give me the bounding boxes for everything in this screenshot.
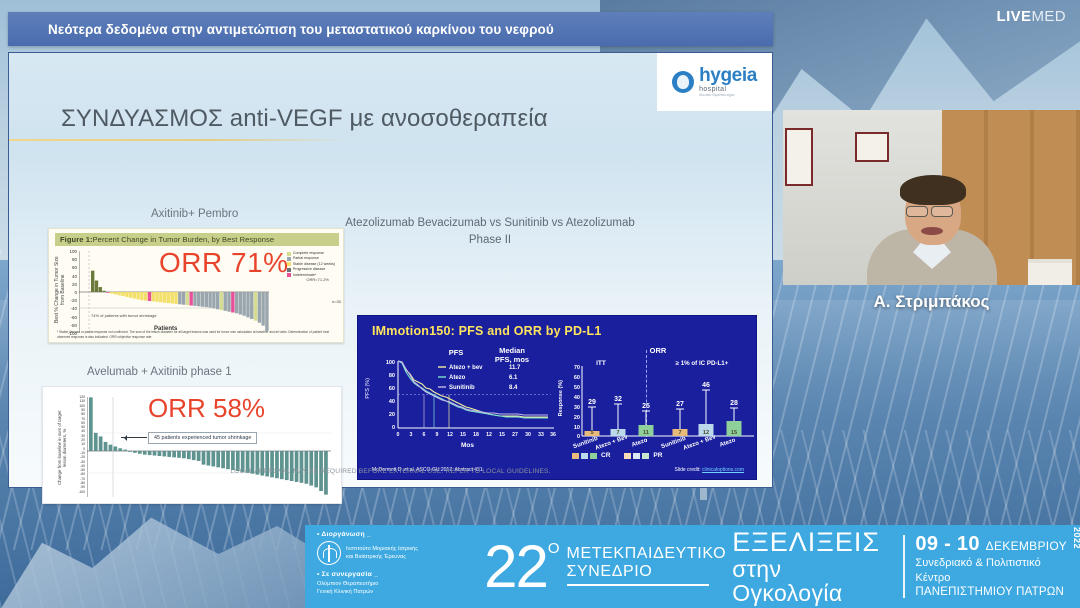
video-person-glasses-left: [906, 206, 928, 217]
svg-text:40: 40: [574, 395, 580, 401]
figure2-bar: [290, 451, 294, 481]
immotion150-orr-legend: CR PR: [572, 452, 662, 459]
figure1-bar: [106, 292, 109, 293]
figure1-bar: [261, 292, 264, 326]
svg-text:6: 6: [423, 432, 426, 438]
immotion-orr-category-label: Atezo: [719, 437, 737, 448]
immotion150-title: IMmotion150: PFS and ORR by PD-L1: [372, 324, 602, 338]
figure2-bar: [143, 451, 147, 455]
figure1-legend-swatch: [287, 262, 291, 266]
speaker-video-feed[interactable]: [783, 110, 1080, 285]
figure1-bar: [133, 292, 136, 299]
legend-swatch-pr-1: [624, 453, 631, 459]
hygeia-name: hygeia: [699, 66, 757, 85]
figure1-y-tick: 100: [63, 249, 77, 254]
immotion150-legend-cr: CR: [601, 452, 610, 459]
figure1-y-tick: -80: [63, 323, 77, 328]
figure2-bar: [148, 451, 152, 455]
congress-dates: 09 - 10 ΔΕΚΕΜΒΡΙΟΥ: [915, 533, 1074, 556]
congress-dates-month: ΔΕΚΕΜΒΡΙΟΥ: [986, 539, 1067, 553]
figure1-bar: [186, 292, 189, 305]
congress-rule: [567, 584, 709, 586]
figure1-bar: [102, 291, 105, 292]
congress-name-line-1: ΕΞΕΛΙΞΕΙΣ: [732, 528, 893, 556]
figure1-bar: [136, 292, 139, 299]
immotion150-orr-heading: ORR: [638, 346, 678, 355]
venue-line-1: Συνεδριακό & Πολιτιστικό Κέντρο: [915, 556, 1074, 586]
presentation-slide[interactable]: hygeia hospital Ιδιωτικό Θεραπευτήριο ΣΥ…: [8, 52, 773, 488]
figure1-bar: [159, 292, 162, 302]
figure2-bar: [177, 451, 181, 458]
figure1-bar: [246, 292, 249, 317]
figure2-bar: [153, 451, 157, 456]
figure2-waterfall-chart: ORR 58% Change from baseline in sum of t…: [42, 386, 342, 504]
hygeia-sub: hospital: [699, 86, 757, 93]
hygeia-mark-icon: [672, 71, 694, 93]
svg-text:3: 3: [410, 432, 413, 438]
figure2-bar: [167, 451, 171, 457]
video-framed-certificate-1: [785, 128, 813, 186]
figure2-bar: [123, 450, 127, 451]
figure1-bar: [163, 292, 166, 303]
figure1-caption: Axitinib+ Pembro: [151, 208, 238, 220]
svg-text:20: 20: [389, 412, 395, 418]
svg-text:36: 36: [550, 432, 556, 438]
figure2-bar: [99, 436, 103, 451]
session-title: Νεότερα δεδομένα στην αντιμετώπιση του μ…: [48, 22, 554, 37]
svg-text:6.1: 6.1: [509, 375, 518, 381]
livemed-live: LIVE: [997, 8, 1032, 25]
figure1-y-tick: -60: [63, 315, 77, 320]
svg-text:18: 18: [473, 432, 479, 438]
figure1-y-tick: 40: [63, 274, 77, 279]
figure1-legend-swatch: [287, 257, 291, 261]
figure1-bar: [239, 292, 242, 315]
immotion-orr-value-label: 28: [730, 400, 738, 407]
livemed-med: MED: [1031, 8, 1066, 25]
figure1-bar: [212, 292, 215, 308]
center-caption-line2: Phase II: [345, 232, 635, 249]
congress-banner: • Διοργάνωση _ Ινστιτούτο Μοριακής Ιατρι…: [305, 525, 1080, 608]
figure2-bar: [221, 451, 225, 468]
figure1-legend-label: Indeterminate*: [293, 273, 316, 278]
figure1-bar: [193, 292, 196, 306]
immotion-orr-value-label: 27: [676, 401, 684, 408]
figure2-bar: [211, 451, 215, 466]
figure1-bar: [250, 292, 253, 319]
figure1-y-tick: 80: [63, 257, 77, 262]
figure1-legend-swatch: [287, 268, 291, 272]
svg-text:30: 30: [574, 405, 580, 411]
cooperation-label: • Σε συνεργασία _: [317, 571, 472, 578]
video-person-hair: [900, 175, 966, 205]
figure1-header: Figure 1: Percent Change in Tumor Burden…: [55, 233, 339, 246]
legend-swatch-cr-2: [581, 453, 588, 459]
immotion-orr-value-label: 46: [702, 382, 710, 389]
figure1-bar: [152, 292, 155, 301]
svg-text:0: 0: [577, 434, 580, 440]
svg-text:10: 10: [574, 425, 580, 431]
figure1-bar: [114, 292, 117, 294]
figure2-bar: [216, 451, 220, 467]
banner-congress-type: ΜΕΤΕΚΠΑΙΔΕΥΤΙΚΟ ΣΥΝΕΔΡΙΟ: [559, 525, 727, 608]
figure1-waterfall-chart: Figure 1: Percent Change in Tumor Burden…: [48, 228, 344, 343]
figure2-bar: [162, 451, 166, 456]
banner-organizers: • Διοργάνωση _ Ινστιτούτο Μοριακής Ιατρι…: [305, 525, 480, 608]
figure2-bar: [187, 451, 191, 459]
figure1-bar: [91, 271, 94, 292]
immotion150-panel: IMmotion150: PFS and ORR by PD-L1 PFS Me…: [357, 315, 757, 480]
hygeia-fineprint: Ιδιωτικό Θεραπευτήριο: [699, 94, 757, 98]
figure2-bar: [226, 451, 230, 469]
immotion150-median-heading-l1: Median: [499, 346, 525, 355]
figure1-bar: [178, 292, 181, 304]
figure2-bar: [202, 451, 206, 465]
figure2-callout: 45 patients experienced tumor shrinkage: [148, 432, 257, 444]
figure1-footnote: * Stable disease or partial response not…: [57, 330, 337, 339]
figure2-bar: [104, 442, 108, 451]
figure1-bar: [110, 292, 113, 294]
immotion150-pfs-xlabel: Mos: [461, 442, 474, 449]
session-title-bar: Νεότερα δεδομένα στην αντιμετώπιση του μ…: [8, 12, 773, 46]
svg-text:80: 80: [389, 373, 395, 379]
figure1-y-tick: -20: [63, 298, 77, 303]
svg-text:Atezo: Atezo: [449, 375, 466, 381]
figure1-bar: [205, 292, 208, 307]
figure1-bar: [125, 292, 128, 297]
svg-text:40: 40: [389, 399, 395, 405]
figure1-y-tick: 20: [63, 282, 77, 287]
figure2-bar: [285, 451, 289, 480]
figure2-bar: [172, 451, 176, 457]
banner-congress-name: ΕΞΕΛΙΞΕΙΣ στην Ογκολογία: [726, 525, 893, 608]
screen-root: Νεότερα δεδομένα στην αντιμετώπιση του μ…: [0, 0, 1080, 608]
figure2-bar: [182, 451, 186, 458]
figure1-header-bold: Figure 1:: [60, 235, 93, 244]
legend-swatch-pr-2: [633, 453, 640, 459]
svg-text:0: 0: [392, 425, 395, 431]
edition-ordinal: Ο: [548, 540, 560, 557]
figure1-bar: [174, 292, 177, 304]
video-person-mouth: [921, 227, 943, 235]
congress-year: 2022: [1072, 527, 1080, 549]
speaker-name: Α. Στριμπάκος: [783, 292, 1080, 312]
immotion-orr-cr-label: 7: [678, 430, 681, 436]
svg-text:30: 30: [525, 432, 531, 438]
figure1-bar: [167, 292, 170, 303]
figure1-bar: [235, 292, 238, 313]
figure1-bar: [140, 292, 143, 300]
figure2-bar: [133, 451, 137, 453]
svg-text:9: 9: [436, 432, 439, 438]
cooperation-line-1: Ολύμπιον Θεραπευτήριο: [317, 580, 472, 588]
figure1-bar: [189, 292, 192, 306]
svg-text:12: 12: [447, 432, 453, 438]
figure1-bar: [121, 292, 124, 296]
figure2-bar: [128, 451, 132, 452]
edition-number: 22: [484, 537, 547, 597]
svg-text:15: 15: [499, 432, 505, 438]
banner-divider: [903, 535, 905, 598]
center-study-caption: Atezolizumab Bevacizumab vs Sunitinib vs…: [345, 215, 635, 248]
figure1-bar: [148, 292, 151, 301]
figure2-bar: [118, 448, 122, 451]
organizer-line-1: Ινστιτούτο Μοριακής Ιατρικής: [346, 545, 418, 553]
figure2-bar: [197, 451, 201, 461]
immotion150-orr-chart: 706050 403020 100 295Sunitinib327Atezo +…: [564, 364, 756, 462]
immotion-orr-value-label: 29: [588, 399, 596, 406]
svg-text:70: 70: [574, 365, 580, 371]
figure1-bar: [208, 292, 211, 308]
figure2-caption: Avelumab + Axitinib phase 1: [87, 366, 232, 378]
organizer-label: • Διοργάνωση _: [317, 531, 472, 538]
svg-text:50: 50: [574, 385, 580, 391]
legend-swatch-cr-1: [572, 453, 579, 459]
figure2-bar: [300, 451, 304, 483]
figure1-bar: [265, 292, 268, 331]
immotion-orr-category-label: Atezo: [631, 437, 649, 448]
figure2-bar: [89, 397, 93, 451]
svg-text:20: 20: [574, 415, 580, 421]
slide-disclaimer: LOCAL APPROVAL MAY BE REQUIRED BEFORE EX…: [9, 468, 772, 475]
legend-swatch-pr-3: [642, 453, 649, 459]
figure1-bar: [258, 292, 261, 323]
immotion-orr-value-label: 32: [614, 396, 622, 403]
figure1-legend-swatch: [287, 273, 291, 277]
figure2-bar: [207, 451, 211, 466]
congress-name-line-2: στην Ογκολογία: [732, 557, 893, 605]
figure2-bar: [158, 451, 162, 456]
figure1-bar: [95, 281, 98, 292]
figure1-legend-item: Indeterminate*: [287, 273, 335, 278]
svg-text:100: 100: [386, 360, 395, 366]
svg-text:11.7: 11.7: [509, 365, 521, 371]
svg-text:0: 0: [397, 432, 400, 438]
video-person: [867, 181, 997, 285]
figure1-bar: [227, 292, 230, 312]
immotion150-pfs-chart: 1008060 40200 036 91215 181215 273033 36: [376, 356, 556, 451]
svg-text:Atezo + bev: Atezo + bev: [449, 365, 483, 371]
institute-logo-icon: [317, 541, 341, 565]
svg-text:Sunitinib: Sunitinib: [449, 385, 475, 391]
immotion-orr-cr-label: 12: [703, 430, 709, 436]
figure1-n-note: n=30: [332, 299, 341, 304]
svg-text:60: 60: [389, 386, 395, 392]
svg-text:60: 60: [574, 375, 580, 381]
figure2-bar: [138, 451, 142, 454]
immotion-orr-cr-label: 5: [590, 430, 593, 436]
slide-title: ΣΥΝΔΥΑΣΜΟΣ anti-VEGF με ανοσοθεραπεία: [61, 105, 548, 133]
figure1-bar: [171, 292, 174, 303]
figure1-bar: [242, 292, 245, 316]
immotion-orr-value-label: 25: [642, 403, 650, 410]
figure2-bar: [295, 451, 299, 482]
immotion-orr-cr-label: 7: [616, 430, 619, 436]
congress-type-line-1: ΜΕΤΕΚΠΑΙΔΕΥΤΙΚΟ: [567, 545, 727, 563]
figure2-bar: [109, 445, 113, 451]
figure1-bar: [129, 292, 132, 298]
svg-text:27: 27: [512, 432, 518, 438]
figure2-plot-svg: [87, 397, 331, 497]
figure1-bar: [99, 287, 102, 292]
figure1-legend: Complete responsePartial responseStable …: [287, 251, 335, 278]
svg-text:8.4: 8.4: [509, 385, 518, 391]
hygeia-logo: hygeia hospital Ιδιωτικό Θεραπευτήριο: [657, 53, 772, 111]
figure1-bar: [182, 292, 185, 305]
immotion-orr-cr-label: 11: [643, 430, 649, 436]
title-underline-rule: [9, 139, 349, 141]
figure1-header-rest: Percent Change in Tumor Burden, by Best …: [93, 235, 275, 244]
figure1-bar: [201, 292, 204, 307]
figure1-bar: [144, 292, 147, 301]
figure1-y-tick: 0: [63, 290, 77, 295]
figure1-bar: [224, 292, 227, 311]
figure1-shrinkage-note: 74% of patients with tumor shrinkage: [91, 313, 157, 318]
figure1-bar: [197, 292, 200, 306]
svg-text:12: 12: [486, 432, 492, 438]
figure1-bar: [254, 292, 257, 321]
figure1-y-tick: -40: [63, 306, 77, 311]
figure1-y-tick: 60: [63, 265, 77, 270]
figure1-bar: [118, 292, 121, 295]
cooperation-line-2: Γενική Κλινική Πατρών: [317, 588, 472, 596]
figure1-bar: [216, 292, 219, 309]
figure1-plot-svg: [79, 251, 269, 333]
figure2-callout-arrow-icon: [121, 437, 147, 438]
organizer-line-2: και Βιοϊατρικής Έρευνας: [346, 553, 418, 561]
livemed-logo: LIVEMED: [997, 8, 1067, 25]
immotion-orr-cr-label: 15: [731, 430, 737, 436]
immotion-orr-category-label: Atezo + Bev: [595, 434, 630, 452]
banner-dates-venue: 09 - 10 ΔΕΚΕΜΒΡΙΟΥ Συνεδριακό & Πολιτιστ…: [915, 525, 1080, 608]
figure2-y-tick: -100: [69, 490, 85, 494]
figure1-bar: [220, 292, 223, 310]
video-papers: [1028, 263, 1072, 285]
center-caption-line1: Atezolizumab Bevacizumab vs Sunitinib vs…: [345, 215, 635, 232]
congress-dates-num: 09 - 10: [915, 533, 979, 555]
banner-edition-number: 22 Ο: [480, 525, 558, 608]
figure1-legend-swatch: [287, 252, 291, 256]
figure2-bar: [94, 433, 98, 451]
congress-type-line-2: ΣΥΝΕΔΡΙΟ: [567, 563, 727, 581]
immotion150-legend-pr: PR: [653, 452, 662, 459]
svg-text:15: 15: [460, 432, 466, 438]
venue-line-2: ΠΑΝΕΠΙΣΤΗΜΙΟΥ ΠΑΤΡΩΝ: [915, 585, 1074, 600]
figure1-bar: [231, 292, 234, 313]
figure1-bar: [155, 292, 158, 302]
video-framed-certificate-2: [855, 132, 889, 162]
immotion-orr-category-label: Atezo + Bev: [683, 434, 718, 452]
figure2-bar: [113, 446, 117, 451]
legend-swatch-cr-3: [590, 453, 597, 459]
video-person-glasses-right: [931, 206, 953, 217]
svg-text:33: 33: [538, 432, 544, 438]
figure2-bar: [192, 451, 196, 460]
immotion150-pfs-ylabel: PFS (%): [365, 378, 371, 399]
